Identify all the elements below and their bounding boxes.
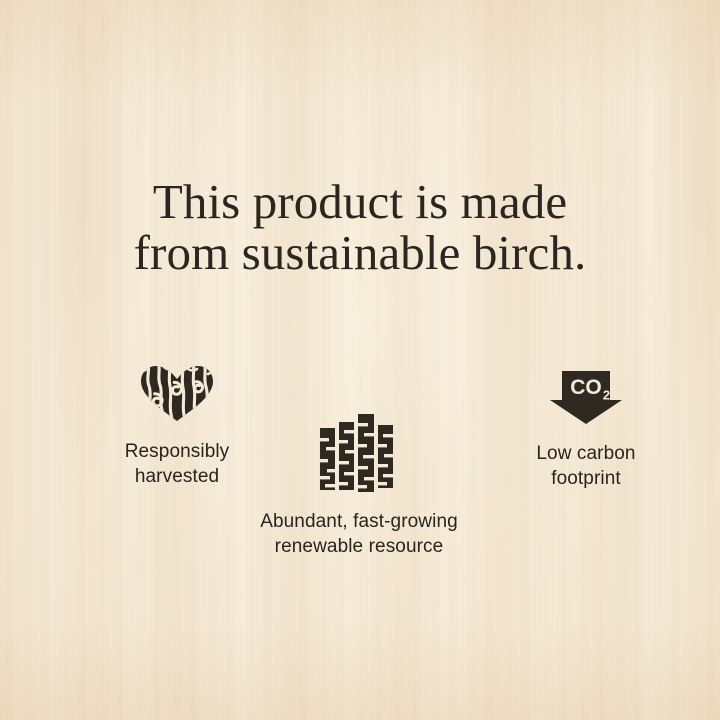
sustainable-birch-poster: This product is made from sustainable bi…: [0, 0, 720, 720]
feature-low-carbon-footprint: CO 2 Low carbon footprint: [436, 366, 720, 491]
feature-caption: Low carbon footprint: [436, 442, 720, 491]
page-headline: This product is made from sustainable bi…: [0, 176, 720, 278]
feature-caption: Abundant, fast-growing renewable resourc…: [209, 510, 509, 559]
co2-down-arrow-icon: CO 2: [436, 366, 720, 426]
co2-label: CO: [570, 376, 602, 399]
co2-subscript: 2: [603, 388, 610, 403]
wood-grain-heart-icon: [27, 360, 327, 422]
